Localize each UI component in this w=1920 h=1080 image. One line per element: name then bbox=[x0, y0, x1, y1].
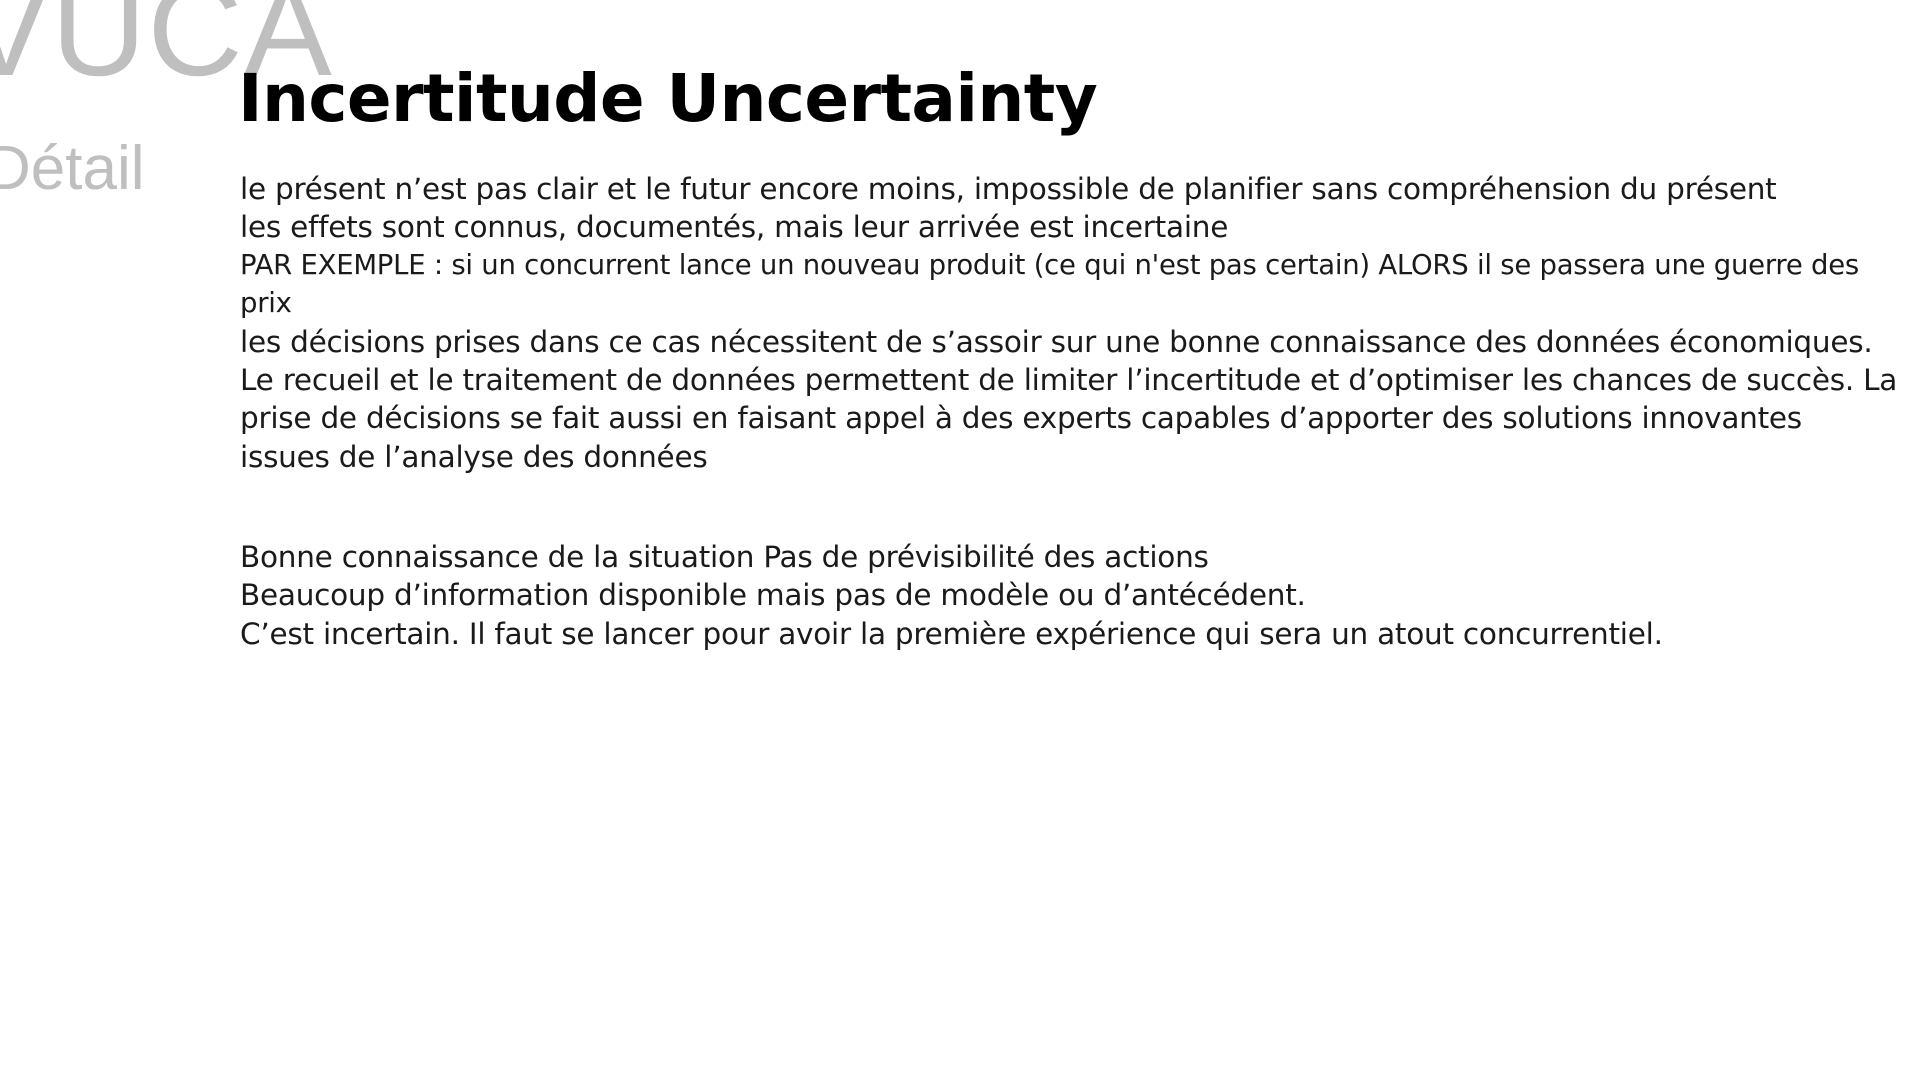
body-paragraph-1: le présent n’est pas clair et le futur e… bbox=[240, 170, 1900, 208]
slide-body: le présent n’est pas clair et le futur e… bbox=[240, 170, 1900, 653]
body-paragraph-conclusion: C’est incertain. Il faut se lancer pour … bbox=[240, 615, 1900, 653]
body-paragraph-situation: Bonne connaissance de la situation Pas d… bbox=[240, 538, 1900, 576]
slide-title: Incertitude Uncertainty bbox=[238, 62, 1878, 136]
paragraph-spacer bbox=[240, 476, 1900, 538]
body-paragraph-decisions: les décisions prises dans ce cas nécessi… bbox=[240, 323, 1900, 476]
body-paragraph-2: les effets sont connus, documentés, mais… bbox=[240, 208, 1900, 246]
body-paragraph-information: Beaucoup d’information disponible mais p… bbox=[240, 576, 1900, 614]
slide-canvas: VUCA Détail Incertitude Uncertainty le p… bbox=[0, 0, 1920, 1080]
watermark-detail-text: Détail bbox=[0, 138, 145, 200]
body-paragraph-example: PAR EXEMPLE : si un concurrent lance un … bbox=[240, 247, 1900, 323]
